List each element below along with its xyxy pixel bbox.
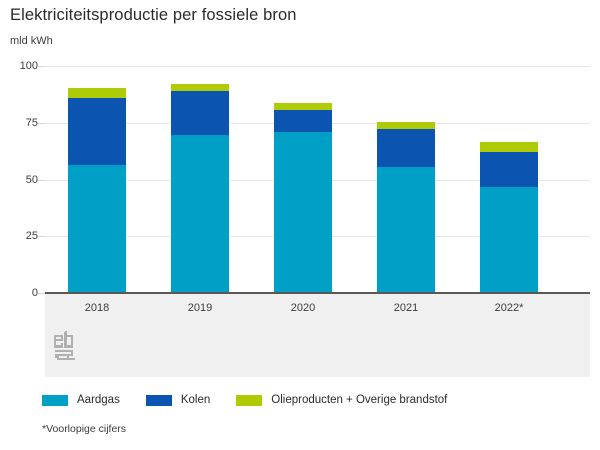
bar-segment[interactable] (480, 187, 538, 293)
x-axis-tick-label: 2020 (268, 302, 338, 314)
x-axis-tick-label: 2021 (371, 302, 441, 314)
bar-segment[interactable] (171, 135, 229, 293)
legend-swatch (42, 395, 68, 406)
chart-container: Elektriciteitsproductie per fossiele bro… (0, 0, 600, 450)
bar-segment[interactable] (68, 98, 126, 165)
bar-segment[interactable] (171, 91, 229, 135)
legend-item[interactable]: Kolen (146, 394, 210, 406)
chart-legend: AardgasKolenOlieproducten + Overige bran… (42, 394, 473, 406)
bar-segment[interactable] (274, 110, 332, 132)
chart-unit-label: mld kWh (10, 35, 53, 47)
y-axis-tick-label: 25 (6, 230, 38, 242)
bar-2019[interactable] (171, 84, 229, 293)
legend-label: Kolen (181, 394, 210, 406)
y-axis-tick-mark (38, 180, 45, 181)
x-axis-tick-label: 2018 (62, 302, 132, 314)
y-axis-tick-mark (38, 236, 45, 237)
y-axis-tick-mark (38, 123, 45, 124)
x-axis-tick-label: 2022* (474, 302, 544, 314)
legend-label: Olieproducten + Overige brandstof (271, 394, 447, 406)
bar-segment[interactable] (377, 167, 435, 293)
chart-footnote: *Voorlopige cijfers (42, 423, 126, 435)
x-axis-tick-label: 2019 (165, 302, 235, 314)
bar-segment[interactable] (377, 122, 435, 129)
cbs-logo-icon (52, 330, 82, 364)
gridline (45, 66, 590, 67)
bar-2022[interactable] (480, 142, 538, 293)
y-axis-tick-mark (38, 66, 45, 67)
bar-segment[interactable] (274, 103, 332, 110)
bar-segment[interactable] (377, 129, 435, 167)
legend-swatch (146, 395, 172, 406)
y-axis-tick-mark (38, 293, 45, 294)
y-axis-tick-label: 75 (6, 117, 38, 129)
y-axis-tick-label: 100 (6, 60, 38, 72)
legend-swatch (236, 395, 262, 406)
y-axis-tick-label: 50 (6, 174, 38, 186)
legend-item[interactable]: Olieproducten + Overige brandstof (236, 394, 447, 406)
y-axis-tick-label: 0 (6, 287, 38, 299)
bar-segment[interactable] (480, 142, 538, 152)
bar-2020[interactable] (274, 103, 332, 293)
chart-title: Elektriciteitsproductie per fossiele bro… (10, 6, 297, 25)
bar-segment[interactable] (274, 132, 332, 293)
bar-segment[interactable] (480, 152, 538, 187)
legend-item[interactable]: Aardgas (42, 394, 120, 406)
bar-segment[interactable] (68, 88, 126, 97)
bar-segment[interactable] (171, 84, 229, 91)
bar-2021[interactable] (377, 122, 435, 293)
legend-label: Aardgas (77, 394, 120, 406)
plot-area (45, 66, 590, 293)
bar-segment[interactable] (68, 165, 126, 293)
bar-2018[interactable] (68, 88, 126, 293)
y-axis: 1007550250 (0, 66, 38, 293)
